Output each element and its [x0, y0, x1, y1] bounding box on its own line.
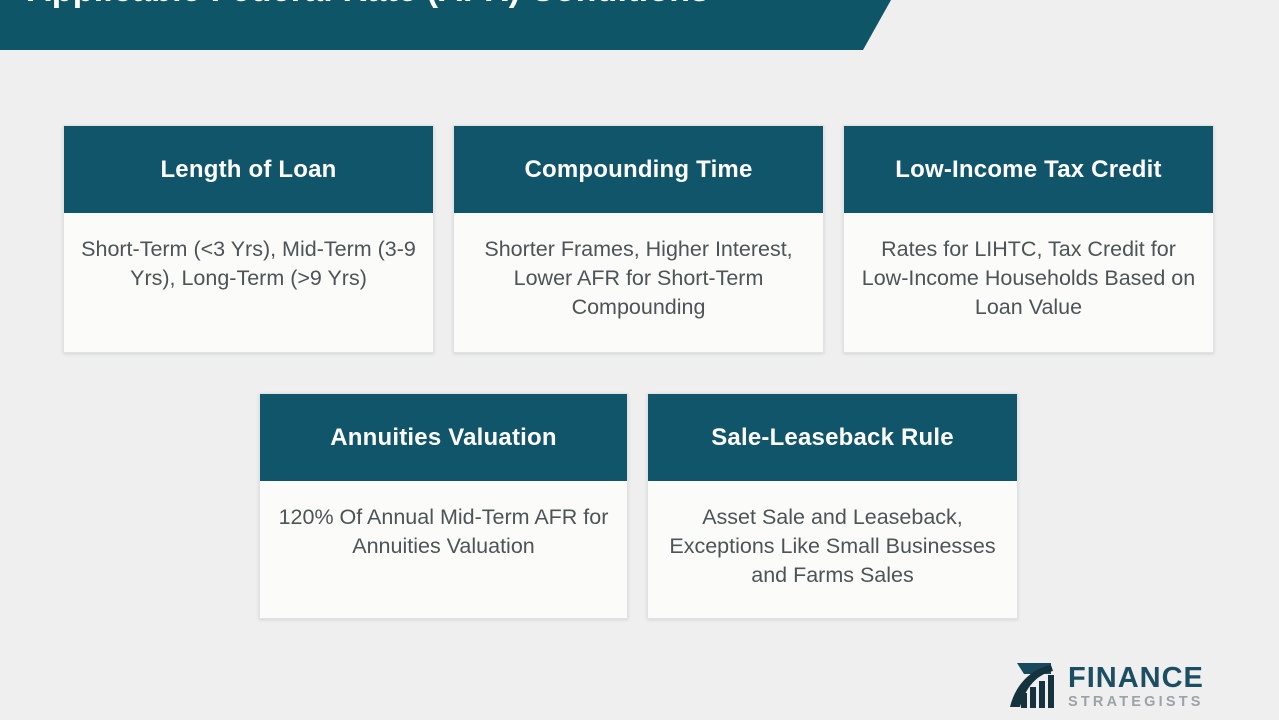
info-card-body-text: Rates for LIHTC, Tax Credit for Low-Inco…	[856, 235, 1201, 322]
info-card-title: Sale-Leaseback Rule	[648, 394, 1017, 481]
finance-strategists-logo: FINANCE STRATEGISTS	[1004, 658, 1236, 714]
logo-wordmark: FINANCE STRATEGISTS	[1068, 662, 1204, 710]
info-card-body: Shorter Frames, Higher Interest, Lower A…	[454, 213, 823, 352]
info-card-title: Length of Loan	[64, 126, 433, 213]
info-card-low-income-tax-credit: Low-Income Tax Credit Rates for LIHTC, T…	[843, 125, 1214, 353]
info-card-length-of-loan: Length of Loan Short-Term (<3 Yrs), Mid-…	[63, 125, 434, 353]
info-card-body-text: Shorter Frames, Higher Interest, Lower A…	[466, 235, 811, 322]
info-card-annuities-valuation: Annuities Valuation 120% Of Annual Mid-T…	[259, 393, 628, 619]
info-card-body: Asset Sale and Leaseback, Exceptions Lik…	[648, 481, 1017, 618]
info-card-title: Compounding Time	[454, 126, 823, 213]
info-card-body-text: 120% Of Annual Mid-Term AFR for Annuitie…	[272, 503, 615, 561]
rising-bar-chart-arrow-icon	[1004, 660, 1062, 712]
info-card-compounding-time: Compounding Time Shorter Frames, Higher …	[453, 125, 824, 353]
info-card-sale-leaseback-rule: Sale-Leaseback Rule Asset Sale and Lease…	[647, 393, 1018, 619]
page-title: Applicable Federal Rate (AFR) Conditions	[27, 0, 857, 10]
logo-word-strategists: STRATEGISTS	[1068, 695, 1204, 710]
info-card-title: Annuities Valuation	[260, 394, 627, 481]
info-card-body-text: Asset Sale and Leaseback, Exceptions Lik…	[660, 503, 1005, 590]
logo-word-finance: FINANCE	[1068, 664, 1204, 693]
info-card-body: Rates for LIHTC, Tax Credit for Low-Inco…	[844, 213, 1213, 352]
info-card-body-text: Short-Term (<3 Yrs), Mid-Term (3-9 Yrs),…	[76, 235, 421, 293]
page-header-banner: Applicable Federal Rate (AFR) Conditions	[0, 0, 891, 50]
info-card-body: Short-Term (<3 Yrs), Mid-Term (3-9 Yrs),…	[64, 213, 433, 352]
info-card-title: Low-Income Tax Credit	[844, 126, 1213, 213]
info-card-body: 120% Of Annual Mid-Term AFR for Annuitie…	[260, 481, 627, 618]
